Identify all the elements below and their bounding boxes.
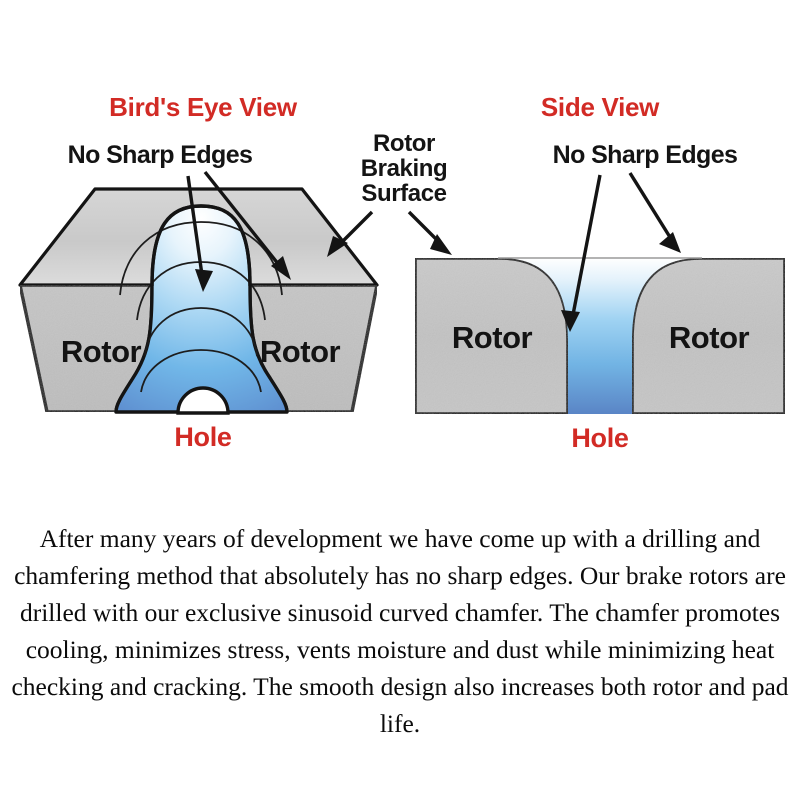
body-copy: After many years of development we have … xyxy=(0,520,800,742)
right-diagram-group: Side View No Sharp Edges Rotor Rotor Hol… xyxy=(415,92,785,453)
diagrams-svg: Bird's Eye View No Sharp Edges Rotor Rot… xyxy=(0,0,800,500)
left-rotor-label-right: Rotor xyxy=(260,334,341,369)
braking-surface-label-line-3: Surface xyxy=(361,180,446,207)
right-leader-line-2 xyxy=(630,173,673,242)
braking-surface-callout-group: Rotor Braking Surface xyxy=(327,130,452,257)
right-diagram-title: Side View xyxy=(541,92,660,122)
left-hole-label: Hole xyxy=(174,422,232,452)
left-rotor-label-left: Rotor xyxy=(61,334,142,369)
braking-surface-label-line-2: Braking xyxy=(361,155,448,182)
right-hole-label: Hole xyxy=(571,423,629,453)
description-paragraph: After many years of development we have … xyxy=(0,520,800,742)
right-rotor-label-right: Rotor xyxy=(669,320,750,355)
right-no-sharp-edges-label: No Sharp Edges xyxy=(553,141,738,169)
rotor-chamfer-figure: Bird's Eye View No Sharp Edges Rotor Rot… xyxy=(0,0,800,800)
right-leader-arrowhead-2 xyxy=(659,232,681,253)
left-no-sharp-edges-label: No Sharp Edges xyxy=(68,141,253,169)
left-diagram-group: Bird's Eye View No Sharp Edges Rotor Rot… xyxy=(20,92,377,452)
braking-surface-label-line-1: Rotor xyxy=(373,130,435,157)
left-diagram-title: Bird's Eye View xyxy=(109,92,298,122)
right-rotor-label-left: Rotor xyxy=(452,320,533,355)
